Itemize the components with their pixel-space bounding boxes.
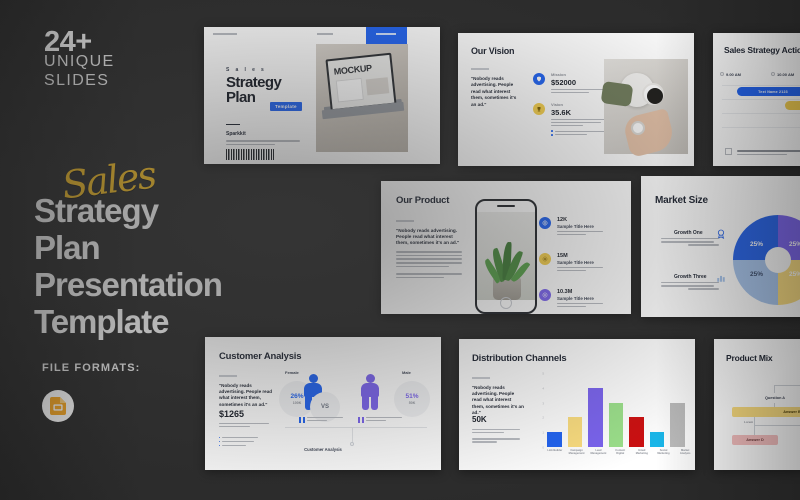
- unique-line-2: SLIDES: [44, 71, 115, 90]
- x-label-4: Email Marketing: [634, 449, 650, 456]
- slide4-stat-0-title: Sample Title Here: [557, 224, 603, 229]
- slide4-phone-mockup: [475, 199, 537, 314]
- slide1-eyebrow: S a l e s: [226, 67, 266, 73]
- slide6-male-sub: 50K: [409, 401, 416, 405]
- y-tick-2: 2: [542, 416, 544, 420]
- x-label-5: Social Marketing: [656, 449, 672, 456]
- slide6-quote: "Nobody reads advertising. People read w…: [219, 383, 275, 408]
- y-tick-0: 0: [542, 446, 544, 450]
- slide6-amount: $1265: [219, 409, 244, 419]
- slide3-footnote: [737, 150, 800, 155]
- slide4-stat-0-value: 12K: [557, 217, 603, 223]
- slide8-edge-label-0: Lorem: [744, 420, 753, 424]
- unique-slides-label: UNIQUE SLIDES: [44, 52, 115, 90]
- slide6-female-percent: 26%: [290, 393, 303, 400]
- chart-y-axis: 5 4 3 2 1 0: [537, 373, 545, 447]
- slide5-growth-one-label: Growth One: [674, 230, 703, 236]
- slide5-growth-one-desc: [661, 238, 719, 246]
- chart-icon: [716, 270, 726, 280]
- donut-label-3: 25%: [750, 241, 763, 248]
- slide1-title-line-1: Strategy: [226, 75, 281, 90]
- slide8-connector-down-left: [774, 385, 775, 393]
- slide2-coffee-photo: [604, 59, 688, 154]
- slide6-connector-line: [285, 427, 427, 428]
- slide2-metric-0-value: $52000: [551, 78, 605, 87]
- bar-3: [609, 403, 624, 447]
- slide1-template-pill: Template: [270, 102, 302, 111]
- slide1-barcode: [226, 149, 274, 160]
- slide7-amount: 50K: [472, 415, 487, 424]
- slide2-metric-1-desc: [551, 119, 605, 126]
- slide2-title: Our Vision: [471, 46, 514, 56]
- slide2-metric-0-desc: [551, 89, 605, 93]
- y-tick-5: 5: [542, 372, 544, 376]
- slide1-body: [226, 140, 300, 145]
- donut-label-2: 25%: [750, 271, 763, 278]
- slide1-mockup-text: MOCKUP: [333, 63, 372, 77]
- slide6-female-note: [307, 417, 343, 421]
- slide4-stat-1-title: Sample Title Here: [557, 260, 603, 265]
- y-tick-4: 4: [542, 386, 544, 390]
- slide6-amount-desc: [219, 423, 269, 427]
- target-icon: [539, 289, 551, 301]
- slide8-connector-b-d: [754, 417, 755, 425]
- distribution-bar-chart: 5 4 3 2 1 0: [537, 373, 685, 447]
- slide1-laptop-photo: MOCKUP: [316, 44, 408, 152]
- slide3-chip-0[interactable]: Text Name 2123: [737, 87, 800, 96]
- globe-icon: [539, 217, 551, 229]
- slide4-body: [396, 251, 462, 278]
- slide2-bullets: [551, 130, 605, 135]
- slide7-rule: [472, 377, 490, 379]
- slide1-header-mid: [317, 33, 333, 35]
- slide6-female-label: Female: [285, 370, 299, 375]
- slide-product-mix[interactable]: Product Mix Question A Answer B Lorem Ip…: [714, 339, 800, 470]
- slide8-node-answer-b[interactable]: Answer B: [732, 407, 800, 417]
- slide6-connector-node: [350, 442, 354, 446]
- gear-icon: [539, 253, 551, 265]
- google-slides-icon[interactable]: [42, 390, 74, 422]
- slide8-node-answer-d[interactable]: Answer D: [732, 435, 778, 445]
- slide-customer-analysis[interactable]: Customer Analysis "Nobody reads advertis…: [205, 337, 441, 470]
- slide6-title: Customer Analysis: [219, 351, 301, 362]
- bar-0: [547, 432, 562, 447]
- x-label-3: Content Digital: [612, 449, 628, 456]
- slide8-connector-cross: [754, 425, 800, 426]
- slide2-metric-0-label: Mission: [551, 72, 605, 77]
- slide8-node-question-a[interactable]: Question A: [747, 393, 800, 403]
- slide5-growth-three-label: Growth Three: [674, 274, 707, 280]
- slide7-title: Distribution Channels: [472, 353, 567, 364]
- slide6-male-label: Male: [402, 370, 411, 375]
- promo-panel: 24+ UNIQUE SLIDES Sales Strategy Plan Pr…: [0, 0, 200, 500]
- chart-bars: [547, 373, 685, 447]
- unique-line-1: UNIQUE: [44, 52, 115, 71]
- slide4-stat-2-title: Sample Title Here: [557, 296, 603, 301]
- slide5-growth-three-desc: [661, 282, 719, 290]
- slide3-chip-1[interactable]: Text Name 3123: [785, 101, 800, 110]
- x-label-0: Link Builder: [547, 449, 563, 456]
- slide6-male-note: [366, 417, 402, 421]
- slide1-title: Strategy Plan: [226, 75, 281, 105]
- donut-label-1: 25%: [789, 271, 800, 278]
- slide4-stat-2: 10.3M Sample Title Here: [557, 289, 603, 307]
- medal-icon: [716, 226, 726, 236]
- slide4-rule: [396, 220, 414, 222]
- slide1-subhead: Sparkkit: [226, 131, 246, 137]
- slide3-col-1: 10.00 AM: [777, 72, 794, 77]
- slide7-quote: "Nobody reads advertising. People read w…: [472, 385, 524, 416]
- x-label-2: Lead Management: [591, 449, 607, 456]
- page-title-line-2: Presentation: [34, 266, 222, 303]
- bar-1: [568, 417, 583, 447]
- slide2-metric-1-value: 35.6K: [551, 108, 605, 117]
- shield-icon: [533, 73, 545, 85]
- slide6-rule: [219, 375, 237, 377]
- bar-5: [650, 432, 665, 447]
- slide3-col-0: 9.00 AM: [726, 72, 741, 77]
- bar-4: [629, 417, 644, 447]
- slide-sales-strategy-plan[interactable]: S a l e s Strategy Plan Template Sparkki…: [204, 27, 440, 164]
- page-title: Strategy Plan Presentation Template: [34, 192, 222, 340]
- slide6-female-mini-icon: [299, 417, 305, 423]
- slide6-male-percent: 51%: [405, 393, 418, 400]
- slide4-stat-2-value: 10.3M: [557, 289, 603, 295]
- file-formats-list: [42, 390, 74, 422]
- slide2-metric-1-label: Vision: [551, 102, 605, 107]
- slide6-male-mini-icon: [358, 417, 364, 423]
- slide-our-vision[interactable]: Our Vision "Nobody reads advertising. Pe…: [458, 33, 694, 166]
- slide2-metric-vision: Vision 35.6K: [551, 102, 605, 136]
- slide6-connector-drop: [352, 427, 353, 443]
- slide2-quote: "Nobody reads advertising. People read w…: [471, 76, 517, 108]
- page-title-line-1: Strategy Plan: [34, 192, 222, 266]
- slide8-connector-top: [774, 385, 800, 386]
- slide8-connector-d-down: [754, 425, 755, 435]
- slide2-rule: [471, 68, 489, 70]
- bar-2: [588, 388, 603, 447]
- market-size-donut-chart: 25% 25% 25% 25%: [733, 215, 800, 305]
- slide3-title: Sales Strategy Action: [724, 45, 800, 55]
- slide4-title: Our Product: [396, 195, 449, 206]
- slide6-male-stat: 51% 50K: [394, 381, 430, 417]
- slide4-stat-0: 12K Sample Title Here: [557, 217, 603, 235]
- slide7-amount-desc: [472, 429, 520, 443]
- slide1-header-left: [213, 33, 237, 35]
- slide2-metric-mission: Mission $52000: [551, 72, 605, 93]
- trophy-icon: [533, 103, 545, 115]
- y-tick-3: 3: [542, 401, 544, 405]
- slide5-title: Market Size: [655, 195, 708, 206]
- x-label-1: Campaign Management: [569, 449, 585, 456]
- chart-x-labels: Link Builder Campaign Management Lead Ma…: [547, 449, 693, 456]
- slide1-header-right: [376, 33, 396, 35]
- donut-label-0: 25%: [789, 241, 800, 248]
- file-formats-label: FILE FORMATS:: [42, 362, 140, 374]
- x-label-6: Market Analysis: [677, 449, 693, 456]
- slide6-bullets: [219, 437, 269, 446]
- slide4-stat-1: 15M Sample Title Here: [557, 253, 603, 271]
- slide6-female-sub: 100K: [293, 401, 302, 405]
- slide-distribution-channels[interactable]: Distribution Channels "Nobody reads adve…: [459, 339, 695, 470]
- slide-sales-strategy-action[interactable]: Sales Strategy Action 9.00 AM 10.00 AM 1…: [713, 33, 800, 166]
- bar-6: [670, 403, 685, 447]
- slide4-quote: "Nobody reads advertising. People read w…: [396, 228, 462, 247]
- slide6-caption: Customer Analysis: [205, 447, 441, 452]
- slide-our-product[interactable]: Our Product "Nobody reads advertising. P…: [381, 181, 631, 314]
- y-tick-1: 1: [542, 431, 544, 435]
- grid-icon: [725, 148, 732, 155]
- slide4-stat-1-value: 15M: [557, 253, 603, 259]
- page-title-line-3: Template: [34, 303, 222, 340]
- slide-market-size[interactable]: Market Size Growth One Growth Three 25% …: [641, 176, 800, 317]
- slide8-title: Product Mix: [726, 353, 772, 363]
- slide1-divider: [226, 124, 240, 125]
